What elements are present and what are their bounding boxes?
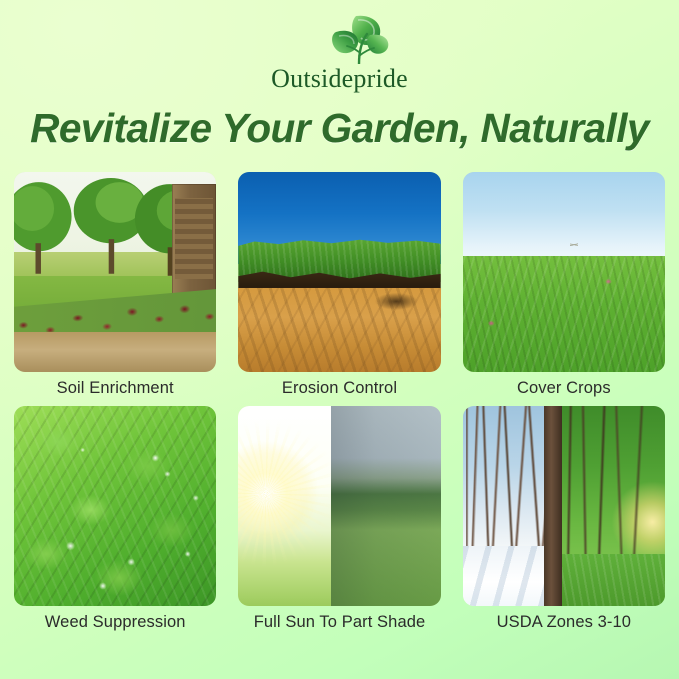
feature-grid: Soil Enrichment Erosion Control Cover Cr… xyxy=(14,172,665,632)
feature-caption: Weed Suppression xyxy=(14,613,216,632)
brand-wordmark: Outsidepride xyxy=(245,66,435,92)
feature-card-usda-zones[interactable]: USDA Zones 3-10 xyxy=(463,406,665,632)
feature-image-cover-crops xyxy=(463,172,665,372)
page-title: Revitalize Your Garden, Naturally xyxy=(3,105,675,152)
feature-image-weed-suppression xyxy=(14,406,216,606)
feature-caption: Soil Enrichment xyxy=(14,379,216,398)
feature-image-usda-zones xyxy=(463,406,665,606)
feature-caption: USDA Zones 3-10 xyxy=(463,613,665,632)
feature-card-weed-suppression[interactable]: Weed Suppression xyxy=(14,406,216,632)
barn-structure xyxy=(172,184,217,300)
header: Outsidepride Revitalize Your Garden, Nat… xyxy=(0,0,679,152)
feature-card-erosion-control[interactable]: Erosion Control xyxy=(238,172,440,398)
feature-card-full-sun-to-part-shade[interactable]: Full Sun To Part Shade xyxy=(238,406,440,632)
feature-card-soil-enrichment[interactable]: Soil Enrichment xyxy=(14,172,216,398)
feature-image-erosion-control xyxy=(238,172,440,372)
feature-image-full-sun-to-part-shade xyxy=(238,406,440,606)
feature-caption: Cover Crops xyxy=(463,379,665,398)
plant-sprout-leaves-icon xyxy=(312,12,390,64)
feature-card-cover-crops[interactable]: Cover Crops xyxy=(463,172,665,398)
feature-caption: Full Sun To Part Shade xyxy=(238,613,440,632)
brand-logo[interactable]: Outsidepride xyxy=(245,10,435,98)
feature-caption: Erosion Control xyxy=(238,379,440,398)
dew-drops xyxy=(14,406,216,606)
feature-image-soil-enrichment xyxy=(14,172,216,372)
